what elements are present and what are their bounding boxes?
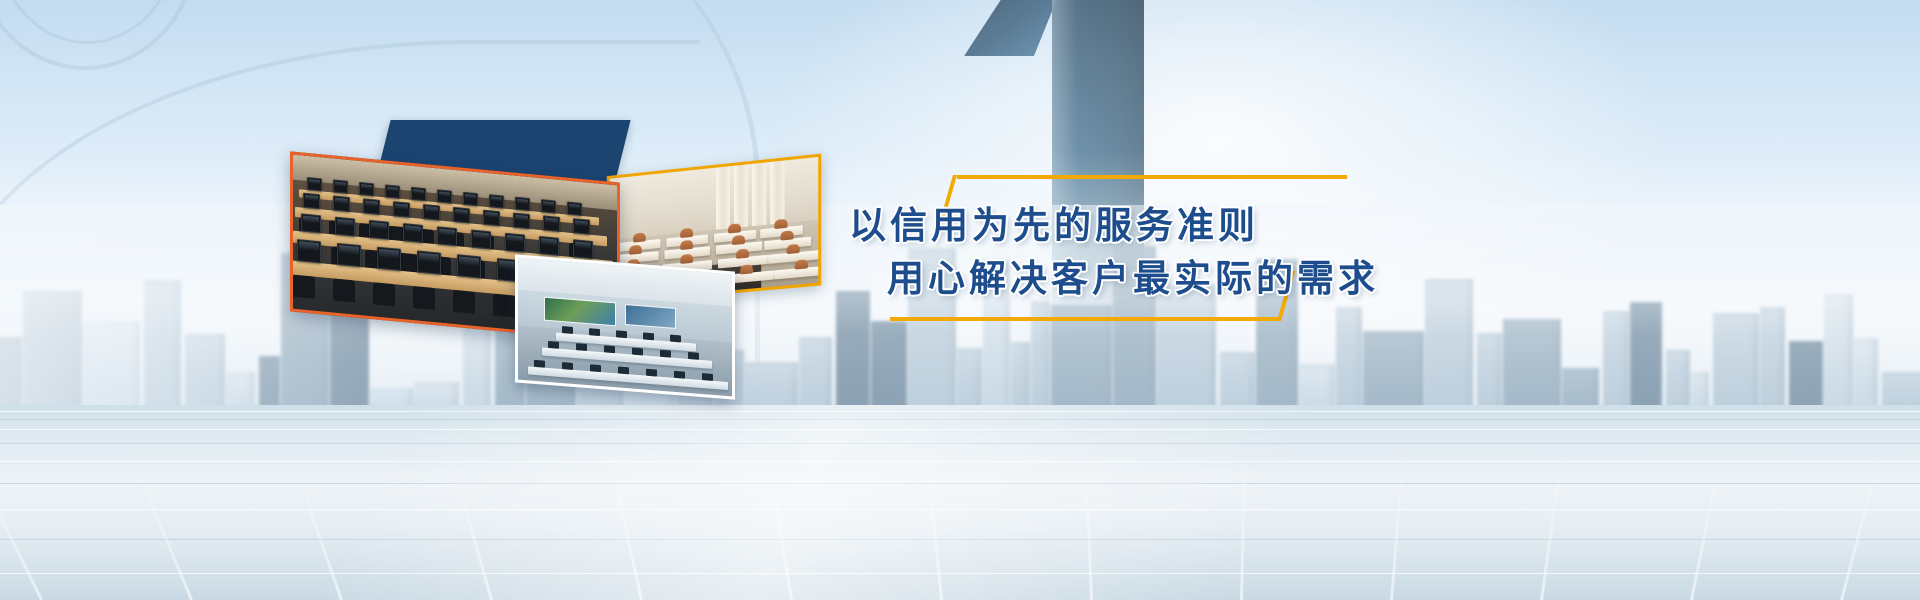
- classroom-chair: [728, 223, 741, 233]
- photo-collage: [280, 105, 850, 395]
- classroom-chair: [787, 244, 800, 254]
- plaza-sheen: [0, 405, 1920, 600]
- lab-monitor: [393, 201, 410, 218]
- control-monitor: [688, 352, 699, 360]
- lab-monitor: [505, 233, 525, 253]
- lab-chair: [389, 226, 404, 241]
- lab-monitor: [333, 195, 350, 212]
- control-monitor: [589, 328, 600, 336]
- headline-block: 以信用为先的服务准则 用心解决客户最实际的需求: [845, 165, 1485, 345]
- bracket-bottom-bar: [890, 317, 1280, 321]
- control-monitor: [534, 360, 545, 368]
- classroom-chair: [680, 240, 693, 250]
- lab-monitor: [377, 247, 401, 271]
- lab-monitor: [297, 239, 321, 263]
- classroom-chair: [740, 264, 753, 274]
- lab-monitor: [369, 220, 389, 240]
- lab-monitor: [573, 239, 593, 259]
- control-monitor: [702, 373, 713, 381]
- lab-monitor: [513, 212, 530, 229]
- lab-monitor: [541, 199, 556, 213]
- control-monitor: [660, 350, 671, 358]
- bracket-top-bar: [957, 175, 1347, 179]
- lab-monitor: [335, 217, 355, 237]
- lab-chair: [333, 278, 355, 302]
- classroom-curtain: [752, 162, 766, 233]
- control-monitor: [562, 326, 573, 334]
- lab-monitor: [307, 177, 322, 191]
- control-monitor: [590, 364, 601, 372]
- lab-monitor: [437, 226, 457, 246]
- classroom-chair: [774, 219, 787, 229]
- control-monitor: [674, 371, 685, 379]
- lab-monitor: [437, 189, 452, 203]
- lab-chair: [293, 275, 315, 299]
- photo-control-room[interactable]: [515, 254, 735, 399]
- control-display-wall-secondary: [625, 304, 676, 329]
- classroom-chair: [629, 245, 642, 255]
- lab-chair: [373, 282, 395, 306]
- lab-monitor: [423, 204, 440, 221]
- classroom-chair: [780, 230, 793, 240]
- lab-chair: [453, 290, 475, 314]
- lab-monitor: [543, 215, 560, 232]
- control-monitor: [670, 335, 681, 343]
- lab-monitor: [303, 193, 320, 210]
- control-monitor: [548, 341, 559, 349]
- classroom-chair: [633, 232, 646, 242]
- lab-chair: [399, 253, 417, 273]
- control-monitor: [576, 343, 587, 351]
- control-monitor: [604, 345, 615, 353]
- lab-monitor: [573, 218, 590, 235]
- classroom-chair: [732, 235, 745, 245]
- headline-line-1: 以信用为先的服务准则: [845, 199, 1485, 252]
- classroom-chair: [736, 249, 749, 259]
- lab-monitor: [333, 179, 348, 193]
- control-monitor: [616, 330, 627, 338]
- lab-monitor: [385, 184, 400, 198]
- control-monitor: [562, 362, 573, 370]
- lab-monitor: [363, 198, 380, 215]
- lab-monitor: [567, 202, 582, 216]
- lab-monitor: [515, 197, 530, 211]
- lab-monitor: [411, 187, 426, 201]
- classroom-chair: [795, 259, 808, 269]
- lab-monitor: [489, 194, 504, 208]
- hero-banner: 以信用为先的服务准则 用心解决客户最实际的需求: [0, 0, 1920, 600]
- lab-monitor: [453, 207, 470, 224]
- control-monitor: [646, 369, 657, 377]
- lab-monitor: [337, 243, 361, 267]
- classroom-chair: [680, 228, 693, 238]
- control-monitor: [643, 332, 654, 340]
- lab-monitor: [457, 254, 481, 278]
- headline-text: 以信用为先的服务准则 用心解决客户最实际的需求: [845, 199, 1485, 305]
- headline-line-2: 用心解决客户最实际的需求: [845, 252, 1485, 305]
- classroom-chair: [680, 254, 693, 264]
- lab-monitor: [471, 230, 491, 250]
- lab-chair: [413, 286, 435, 310]
- lab-monitor: [359, 182, 374, 196]
- lab-monitor: [301, 213, 321, 233]
- lab-monitor: [539, 236, 559, 256]
- lab-monitor: [403, 223, 423, 243]
- lab-monitor: [417, 250, 441, 274]
- lab-chair: [493, 294, 515, 318]
- lab-monitor: [483, 210, 500, 227]
- lab-monitor: [463, 192, 478, 206]
- control-monitor: [632, 348, 643, 356]
- control-monitor: [618, 366, 629, 374]
